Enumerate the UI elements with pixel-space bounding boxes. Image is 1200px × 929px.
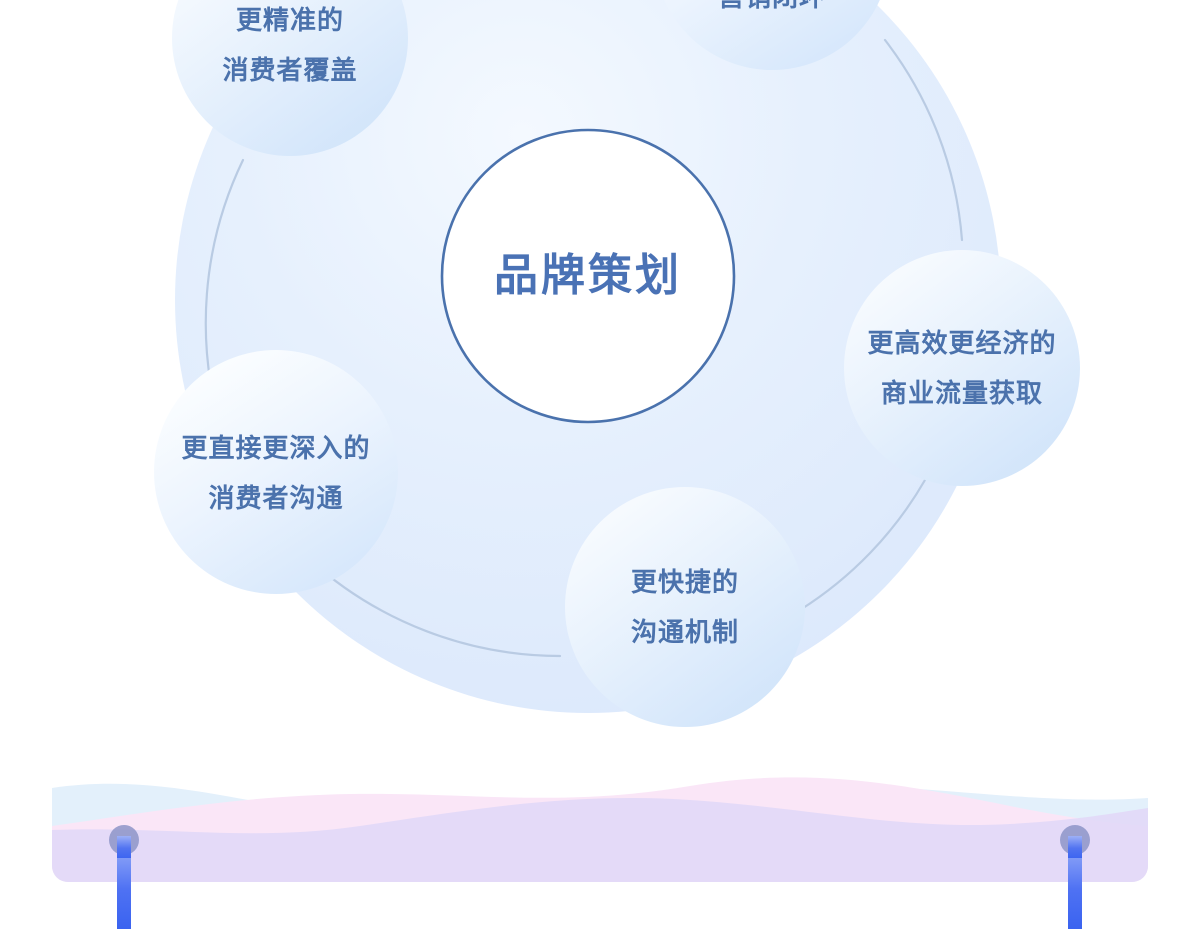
center-label: 品牌策划 <box>388 250 788 302</box>
bubble-fast-mechanism[interactable] <box>565 487 805 727</box>
node-marketing-loop-line1: 营销闭环 <box>622 0 922 12</box>
bubble-traffic-acquire[interactable] <box>844 250 1080 486</box>
node-marketing-loop[interactable]: 营销闭环 <box>622 0 922 12</box>
diagram-canvas: 品牌策划 更精准的 消费者覆盖 营销闭环 更高效更经济的 商业流量获取 更直接更… <box>0 0 1200 929</box>
wave-card <box>52 770 1148 884</box>
bubble-direct-comm[interactable] <box>154 350 398 594</box>
shapes-layer <box>0 0 1200 929</box>
